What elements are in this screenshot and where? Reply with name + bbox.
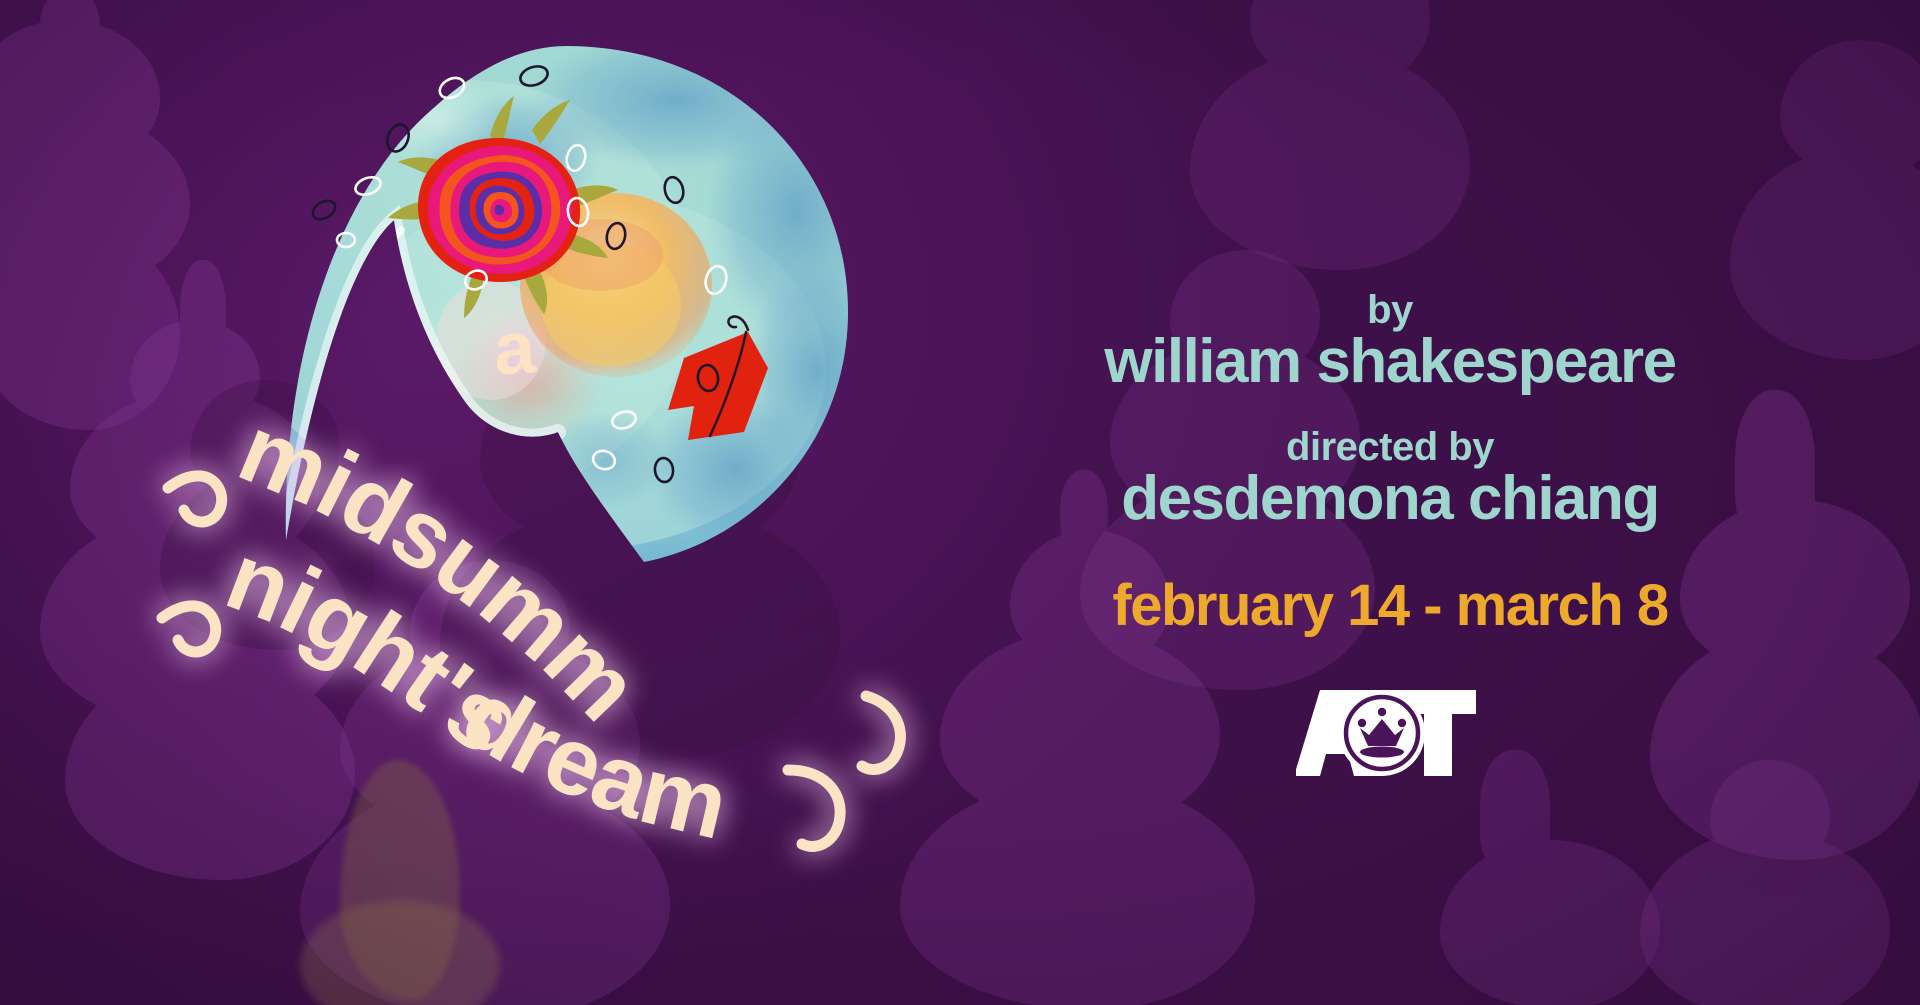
credits-spacer: [1060, 393, 1720, 427]
act-logo[interactable]: [1296, 690, 1476, 776]
background-silhouette-far-right-top: [1720, 40, 1920, 370]
run-dates: february 14 - march 8: [1060, 572, 1720, 639]
playwright-name: william shakespeare: [1060, 330, 1720, 393]
background-silhouette-bottom-right: [1420, 780, 1680, 1005]
director-name: desdemona chiang: [1060, 467, 1720, 530]
credits-block: by william shakespeare directed by desde…: [1060, 290, 1720, 639]
byline-label: by: [1060, 290, 1720, 330]
poster-canvas: a midsummer night's dream by william sha…: [0, 0, 1920, 1005]
directed-by-label: directed by: [1060, 427, 1720, 467]
moon-illustration: [276, 40, 856, 570]
background-silhouette-top-right: [1170, 0, 1490, 280]
